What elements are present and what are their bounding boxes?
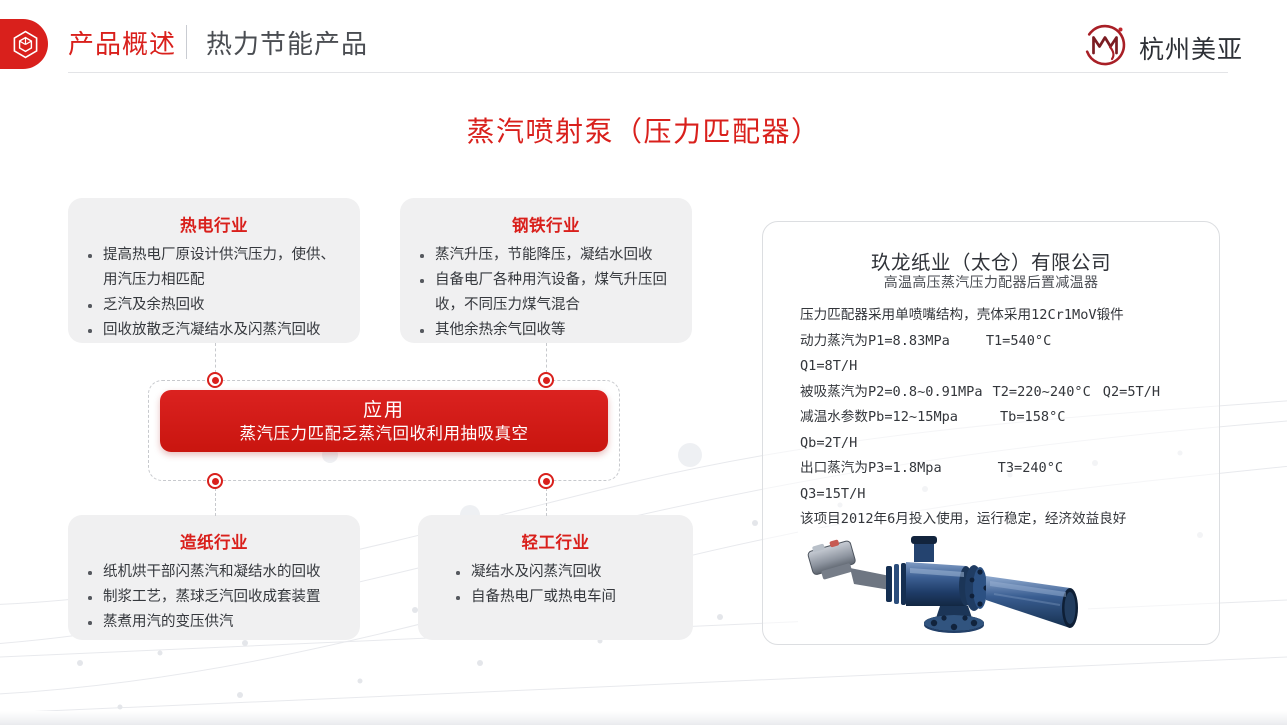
spec-left: 出口蒸汽为P3=1.8Mpa	[800, 460, 942, 476]
connector-dot-top-right	[538, 372, 554, 388]
meiya-m-circle-logo-icon	[1080, 20, 1130, 75]
list-item: 自备热电厂或热电车间	[434, 585, 677, 610]
connector-line-top-left	[215, 343, 216, 373]
case-company-name: 玖龙纸业（太仓）有限公司	[762, 246, 1220, 275]
bottom-strip	[0, 711, 1287, 725]
spec-left: 减温水参数Pb=12~15Mpa	[800, 409, 958, 425]
spec-mid: T1=540°C	[986, 333, 1051, 349]
industry-card-title: 造纸行业	[84, 529, 344, 553]
list-item: 蒸汽升压，节能降压，凝结水回收	[416, 243, 676, 268]
industry-card-title: 热电行业	[84, 212, 344, 236]
spec-row: 动力蒸汽为P1=8.83MPaT1=540°C	[800, 329, 1200, 355]
industry-card-papermaking[interactable]: 造纸行业 纸机烘干部闪蒸汽和凝结水的回收 制浆工艺，蒸球乏汽回收成套装置 蒸煮用…	[68, 515, 360, 640]
header-divider	[186, 25, 187, 59]
page-title: 产品概述	[68, 24, 176, 61]
list-item: 提高热电厂原设计供汽压力，使供、用汽压力相匹配	[84, 243, 344, 293]
spec-mid: T3=240°C	[998, 460, 1063, 476]
spec-left: 压力匹配器采用单喷嘴结构，壳体采用12Cr1MoV锻件	[800, 307, 1124, 323]
case-subtitle: 高温高压蒸汽压力配器后置减温器	[762, 272, 1220, 292]
industry-card-title: 钢铁行业	[416, 212, 676, 236]
cube-hexagon-icon	[12, 30, 39, 59]
slide-canvas: 产品概述 热力节能产品 杭州美亚 蒸汽喷射泵（压力匹配器） 热电行业 提高热电厂…	[0, 0, 1287, 725]
brand-name: 杭州美亚	[1139, 30, 1243, 66]
page-header: 产品概述 热力节能产品 杭州美亚	[0, 0, 1287, 84]
case-spec-list: 压力匹配器采用单喷嘴结构，壳体采用12Cr1MoV锻件 动力蒸汽为P1=8.83…	[800, 303, 1200, 533]
header-rule	[68, 72, 1228, 73]
spec-row: 出口蒸汽为P3=1.8MpaT3=240°C	[800, 456, 1200, 482]
spec-row: 被吸蒸汽为P2=0.8~0.91MPaT2=220~240°CQ2=5T/H	[800, 380, 1200, 406]
industry-card-steel[interactable]: 钢铁行业 蒸汽升压，节能降压，凝结水回收 自备电厂各种用汽设备，煤气升压回收，不…	[400, 198, 692, 343]
industry-card-list: 提高热电厂原设计供汽压力，使供、用汽压力相匹配 乏汽及余热回收 回收放散乏汽凝结…	[84, 243, 344, 343]
spec-row: Qb=2T/H	[800, 431, 1200, 457]
page-subtitle: 热力节能产品	[206, 24, 368, 61]
spec-left: Q1=8T/H	[800, 358, 857, 374]
application-heading: 应用	[363, 398, 405, 422]
industry-card-thermal-power[interactable]: 热电行业 提高热电厂原设计供汽压力，使供、用汽压力相匹配 乏汽及余热回收 回收放…	[68, 198, 360, 343]
industry-card-light-industry[interactable]: 轻工行业 凝结水及闪蒸汽回收 自备热电厂或热电车间	[418, 515, 693, 640]
slide-title: 蒸汽喷射泵（压力匹配器）	[0, 110, 1287, 150]
industry-card-list: 纸机烘干部闪蒸汽和凝结水的回收 制浆工艺，蒸球乏汽回收成套装置 蒸煮用汽的变压供…	[84, 560, 344, 635]
spec-left: 该项目2012年6月投入使用，运行稳定，经济效益良好	[800, 511, 1126, 527]
industry-card-list: 凝结水及闪蒸汽回收 自备热电厂或热电车间	[434, 560, 677, 610]
industry-card-list: 蒸汽升压，节能降压，凝结水回收 自备电厂各种用汽设备，煤气升压回收，不同压力煤气…	[416, 243, 676, 343]
list-item: 纸机烘干部闪蒸汽和凝结水的回收	[84, 560, 344, 585]
spec-row: Q3=15T/H	[800, 482, 1200, 508]
spec-left: 动力蒸汽为P1=8.83MPa	[800, 333, 950, 349]
list-item: 蒸煮用汽的变压供汽	[84, 610, 344, 635]
spec-row: Q1=8T/H	[800, 354, 1200, 380]
spec-right: Q2=5T/H	[1103, 384, 1160, 400]
spec-left: 被吸蒸汽为P2=0.8~0.91MPa	[800, 384, 983, 400]
connector-line-bottom-right	[546, 488, 547, 516]
application-description: 蒸汽压力匹配乏蒸汽回收利用抽吸真空	[240, 422, 529, 445]
spec-left: Qb=2T/H	[800, 435, 857, 451]
application-center-box[interactable]: 应用 蒸汽压力匹配乏蒸汽回收利用抽吸真空	[160, 390, 608, 452]
list-item: 乏汽及余热回收	[84, 293, 344, 318]
header-badge	[0, 19, 48, 69]
spec-mid: Tb=158°C	[1000, 409, 1065, 425]
list-item: 回收放散乏汽凝结水及闪蒸汽回收	[84, 318, 344, 343]
connector-dot-bottom-left	[207, 473, 223, 489]
connector-dot-bottom-right	[538, 473, 554, 489]
spec-mid: T2=220~240°C	[993, 384, 1091, 400]
connector-line-top-right	[546, 343, 547, 373]
case-ribbon-wrapper: 典型案例	[906, 198, 1078, 242]
spec-left: Q3=15T/H	[800, 486, 865, 502]
spec-row: 压力匹配器采用单喷嘴结构，壳体采用12Cr1MoV锻件	[800, 303, 1200, 329]
brand-logo: 杭州美亚	[1080, 20, 1243, 75]
list-item: 制浆工艺，蒸球乏汽回收成套装置	[84, 585, 344, 610]
industry-card-title: 轻工行业	[434, 529, 677, 553]
list-item: 自备电厂各种用汽设备，煤气升压回收，不同压力煤气混合	[416, 268, 676, 318]
list-item: 凝结水及闪蒸汽回收	[434, 560, 677, 585]
list-item: 其他余热余气回收等	[416, 318, 676, 343]
application-diagram: 热电行业 提高热电厂原设计供汽压力，使供、用汽压力相匹配 乏汽及余热回收 回收放…	[0, 190, 740, 660]
case-product-photo	[798, 528, 1088, 638]
connector-dot-top-left	[207, 372, 223, 388]
connector-line-bottom-left	[215, 488, 216, 516]
spec-row: 减温水参数Pb=12~15MpaTb=158°C	[800, 405, 1200, 431]
